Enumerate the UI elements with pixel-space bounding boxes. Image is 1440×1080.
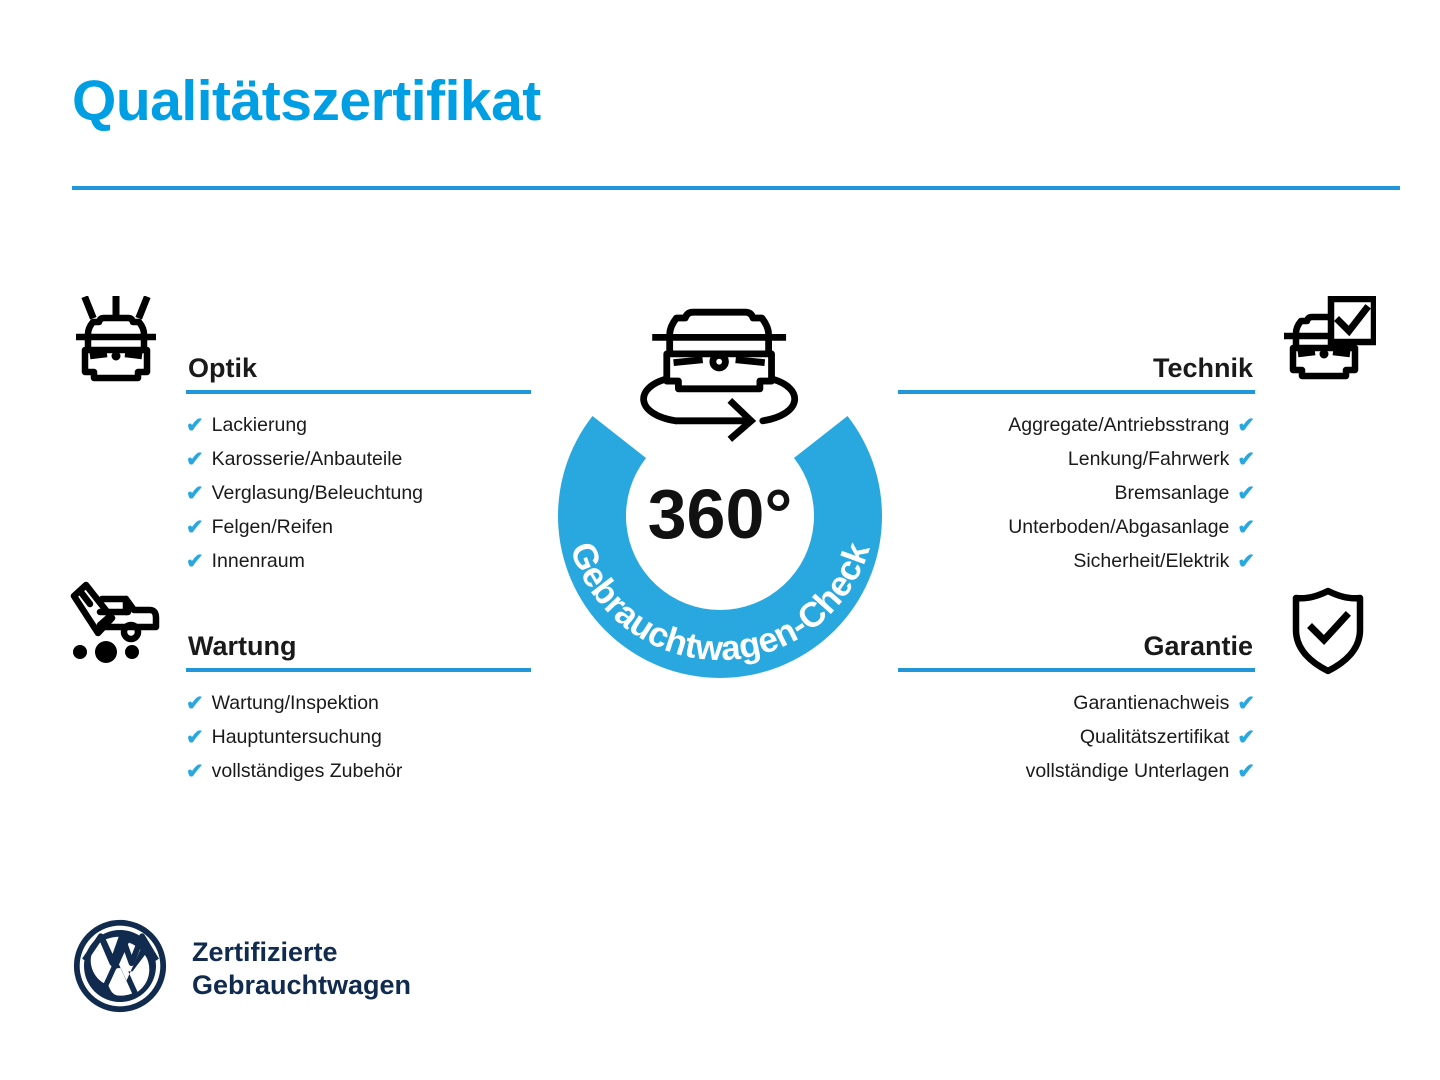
list-item-label: Wartung/Inspektion	[212, 692, 379, 715]
vw-logo	[72, 918, 168, 1019]
check-icon: ✔	[186, 415, 204, 436]
check-icon: ✔	[1237, 551, 1255, 572]
check-icon: ✔	[186, 693, 204, 714]
list-item-label: vollständige Unterlagen	[1026, 760, 1230, 783]
check-icon: ✔	[186, 517, 204, 538]
quality-certificate-page: Qualitätszertifikat	[0, 0, 1440, 1080]
list-item: ✔ Wartung/Inspektion	[186, 686, 531, 720]
section-technik-title: Technik	[1153, 353, 1253, 384]
section-wartung-header: Wartung	[186, 610, 531, 672]
list-item-label: Innenraum	[212, 550, 305, 573]
car-rotation-icon	[644, 312, 795, 439]
list-item-label: vollständiges Zubehör	[212, 760, 403, 783]
section-optik-header: Optik	[186, 332, 531, 394]
list-item-label: Garantienachweis	[1073, 692, 1229, 715]
footer-line-1: Zertifizierte	[192, 936, 411, 969]
list-item-label: Hauptuntersuchung	[212, 726, 382, 749]
section-optik: Optik ✔ Lackierung ✔ Karosserie/Anbautei…	[186, 332, 531, 578]
check-icon: ✔	[186, 551, 204, 572]
list-item: ✔ Felgen/Reifen	[186, 510, 531, 544]
check-icon: ✔	[1237, 727, 1255, 748]
check-icon: ✔	[1237, 483, 1255, 504]
section-technik: Technik Aggregate/Antriebsstrang ✔ Lenku…	[898, 332, 1255, 578]
list-item-label: Lenkung/Fahrwerk	[1068, 448, 1230, 471]
list-item: ✔ Karosserie/Anbauteile	[186, 442, 531, 476]
section-technik-divider	[898, 390, 1255, 394]
list-item: Qualitätszertifikat ✔	[898, 720, 1255, 754]
list-item: ✔ Innenraum	[186, 544, 531, 578]
section-garantie-header: Garantie	[898, 610, 1255, 672]
car-checkbox-icon	[1276, 296, 1376, 393]
header-divider	[72, 186, 1400, 190]
section-wartung: Wartung ✔ Wartung/Inspektion ✔ Hauptunte…	[186, 610, 531, 788]
section-optik-list: ✔ Lackierung ✔ Karosserie/Anbauteile ✔ V…	[186, 408, 531, 578]
section-wartung-list: ✔ Wartung/Inspektion ✔ Hauptuntersuchung…	[186, 686, 531, 788]
check-icon: ✔	[1237, 415, 1255, 436]
list-item-label: Aggregate/Antriebsstrang	[1008, 414, 1229, 437]
footer-line-2: Gebrauchtwagen	[192, 969, 411, 1002]
section-garantie-title: Garantie	[1143, 631, 1253, 662]
list-item: Aggregate/Antriebsstrang ✔	[898, 408, 1255, 442]
check-icon: ✔	[186, 483, 204, 504]
section-wartung-title: Wartung	[188, 631, 296, 662]
list-item-label: Karosserie/Anbauteile	[212, 448, 403, 471]
list-item: Unterboden/Abgasanlage ✔	[898, 510, 1255, 544]
list-item: ✔ Verglasung/Beleuchtung	[186, 476, 531, 510]
section-garantie: Garantie Garantienachweis ✔ Qualitätszer…	[898, 610, 1255, 788]
list-item-label: Felgen/Reifen	[212, 516, 333, 539]
check-icon: ✔	[1237, 449, 1255, 470]
check-icon: ✔	[186, 449, 204, 470]
car-shine-icon	[64, 296, 168, 393]
section-wartung-divider	[186, 668, 531, 672]
360-check-badge: Gebrauchtwagen-Check 360°	[520, 268, 920, 705]
check-icon: ✔	[1237, 693, 1255, 714]
list-item: Sicherheit/Elektrik ✔	[898, 544, 1255, 578]
list-item: Lenkung/Fahrwerk ✔	[898, 442, 1255, 476]
footer-brand: Zertifizierte Gebrauchtwagen	[72, 918, 411, 1019]
section-optik-divider	[186, 390, 531, 394]
list-item-label: Sicherheit/Elektrik	[1073, 550, 1229, 573]
badge-center-label: 360°	[648, 475, 793, 553]
check-icon: ✔	[186, 761, 204, 782]
list-item-label: Qualitätszertifikat	[1080, 726, 1230, 749]
section-optik-title: Optik	[188, 353, 257, 384]
check-icon: ✔	[186, 727, 204, 748]
section-garantie-list: Garantienachweis ✔ Qualitätszertifikat ✔…	[898, 686, 1255, 788]
list-item-label: Bremsanlage	[1114, 482, 1229, 505]
list-item: vollständige Unterlagen ✔	[898, 754, 1255, 788]
section-technik-header: Technik	[898, 332, 1255, 394]
check-icon: ✔	[1237, 517, 1255, 538]
footer-brand-text: Zertifizierte Gebrauchtwagen	[192, 936, 411, 1002]
list-item-label: Verglasung/Beleuchtung	[212, 482, 423, 505]
list-item: ✔ Hauptuntersuchung	[186, 720, 531, 754]
list-item-label: Unterboden/Abgasanlage	[1008, 516, 1229, 539]
shield-check-icon	[1288, 586, 1368, 681]
page-title: Qualitätszertifikat	[72, 70, 541, 133]
check-icon: ✔	[1237, 761, 1255, 782]
section-technik-list: Aggregate/Antriebsstrang ✔ Lenkung/Fahrw…	[898, 408, 1255, 578]
list-item-label: Lackierung	[212, 414, 307, 437]
section-garantie-divider	[898, 668, 1255, 672]
list-item: Bremsanlage ✔	[898, 476, 1255, 510]
list-item: ✔ vollständiges Zubehör	[186, 754, 531, 788]
pen-car-service-icon	[64, 578, 168, 675]
list-item: Garantienachweis ✔	[898, 686, 1255, 720]
list-item: ✔ Lackierung	[186, 408, 531, 442]
